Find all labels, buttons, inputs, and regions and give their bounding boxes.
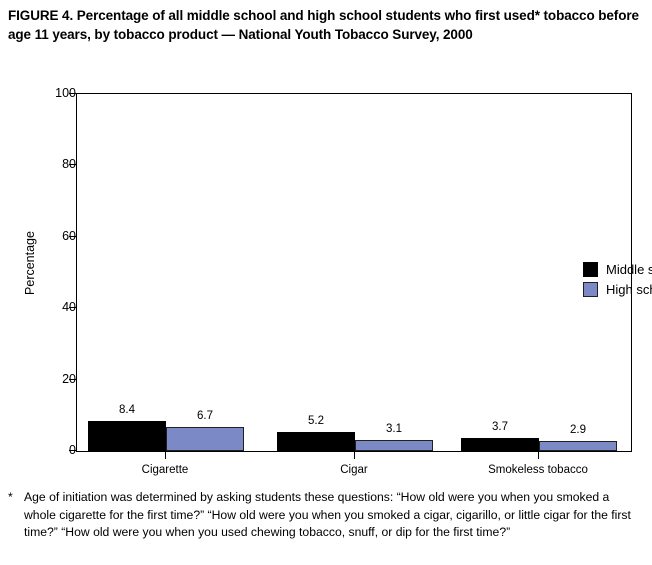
bar-cigar-middle-school [277,432,355,451]
footnote-text: Age of initiation was determined by aski… [24,489,644,542]
bar-value-label: 8.4 [88,404,166,416]
x-axis-tick-label: Cigar [254,464,454,476]
bar-cigarette-middle-school [88,421,166,451]
legend-swatch-high-school [583,282,598,297]
plot-frame: 8.46.75.23.13.72.9 Middle school High sc… [76,93,632,452]
legend-item: High school [583,279,652,299]
bar-smokeless-tobacco-middle-school [461,438,539,451]
bar-cigar-high-school [355,440,433,451]
chart-legend: Middle school High school [583,259,652,299]
bar-smokeless-tobacco-high-school [539,441,617,451]
legend-swatch-middle-school [583,262,598,277]
legend-item: Middle school [583,259,652,279]
chart-area: Percentage 020406080100 8.46.75.23.13.72… [0,86,652,481]
legend-label-middle-school: Middle school [606,262,652,277]
x-axis-tick-label: Cigarette [65,464,265,476]
x-axis-tick-label: Smokeless tobacco [438,464,638,476]
x-axis-tick-mark [538,450,539,459]
figure-footnote: * Age of initiation was determined by as… [8,489,644,542]
bar-cigarette-high-school [166,427,244,451]
legend-label-high-school: High school [606,282,652,297]
footnote-marker: * [8,489,22,507]
bar-value-label: 5.2 [277,415,355,427]
bar-value-label: 2.9 [539,424,617,436]
figure-title: FIGURE 4. Percentage of all middle schoo… [8,6,648,44]
x-axis-tick-mark [354,450,355,459]
bar-value-label: 3.7 [461,421,539,433]
bar-value-label: 3.1 [355,423,433,435]
x-axis-tick-mark [165,450,166,459]
bar-value-label: 6.7 [166,410,244,422]
